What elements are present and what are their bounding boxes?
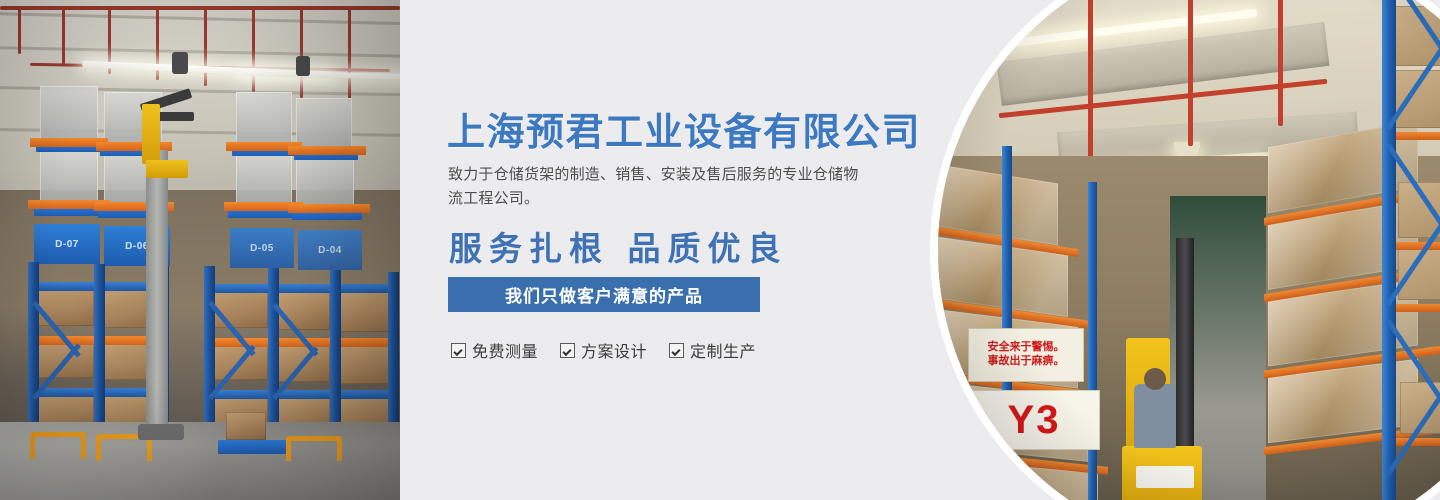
page-title: 上海预君工业设备有限公司 bbox=[447, 101, 921, 156]
page-subtitle: 致力于仓储货架的制造、销售、安装及售后服务的专业仓储物流工程公司。 bbox=[448, 163, 868, 212]
slogan: 服务扎根 品质优良 bbox=[449, 222, 788, 270]
feature-item-custom-production: 定制生产 bbox=[669, 338, 756, 362]
hero-content: 上海预君工业设备有限公司 致力于仓储货架的制造、销售、安装及售后服务的专业仓储物… bbox=[447, 0, 917, 500]
left-warehouse-photo: D-07 D-06 D-05 D-04 bbox=[0, 0, 400, 500]
photo-vignette bbox=[938, 0, 1440, 500]
photo-vignette bbox=[0, 0, 400, 500]
cta-button[interactable]: 我们只做客户满意的产品 bbox=[448, 277, 760, 312]
feature-label: 免费测量 bbox=[472, 338, 538, 362]
feature-label: 定制生产 bbox=[690, 338, 756, 362]
right-warehouse-photo: 安全来于警惕。 事故出于麻痹。 Y3 Y3 bbox=[938, 0, 1440, 500]
feature-list: 免费测量 方案设计 定制生产 bbox=[451, 338, 756, 362]
checkbox-checked-icon bbox=[451, 343, 466, 358]
right-photo-circle: 安全来于警惕。 事故出于麻痹。 Y3 Y3 bbox=[930, 0, 1440, 500]
hero-banner: D-07 D-06 D-05 D-04 bbox=[0, 0, 1440, 500]
checkbox-checked-icon bbox=[669, 343, 684, 358]
checkbox-checked-icon bbox=[560, 343, 575, 358]
feature-label: 方案设计 bbox=[581, 338, 647, 362]
feature-item-solution-design: 方案设计 bbox=[560, 338, 647, 362]
feature-item-free-measure: 免费测量 bbox=[451, 338, 538, 362]
